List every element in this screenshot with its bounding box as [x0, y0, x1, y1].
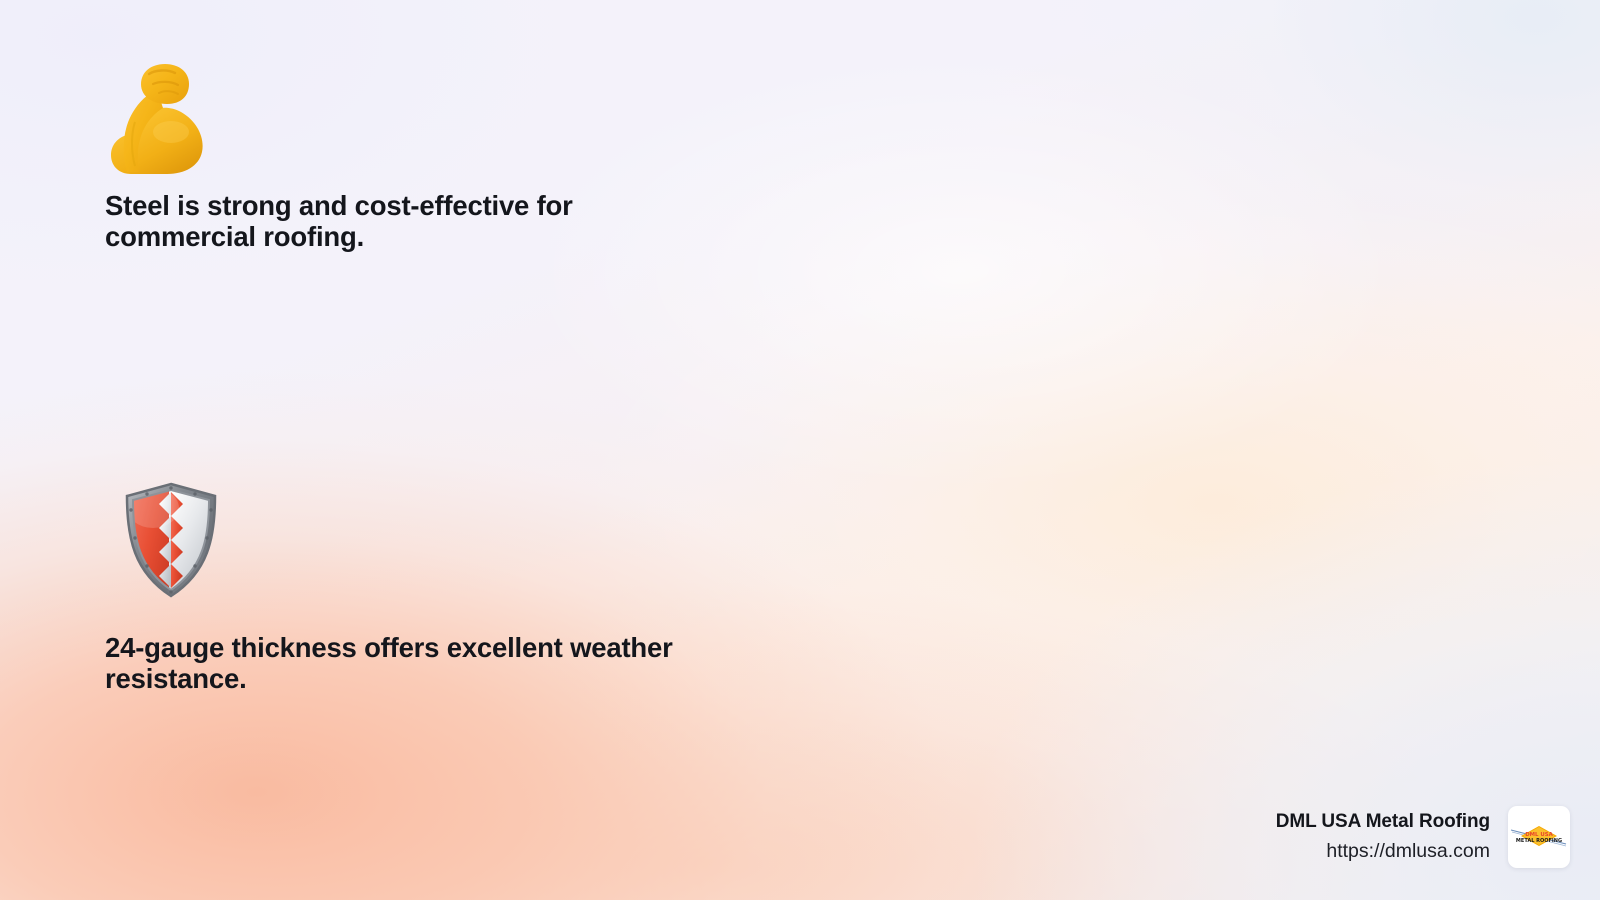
- svg-text:METAL ROOFING: METAL ROOFING: [1516, 838, 1562, 844]
- brand-text-block: DML USA Metal Roofing https://dmlusa.com: [1276, 810, 1490, 864]
- brand-url[interactable]: https://dmlusa.com: [1276, 838, 1490, 864]
- feature-grid: Steel is strong and cost-effective for c…: [0, 0, 1600, 900]
- feature-card-strength: Steel is strong and cost-effective for c…: [0, 0, 800, 420]
- feature-caption: Steel is strong and cost-effective for c…: [105, 190, 725, 252]
- feature-card-installation: Proper installation can mitigate common …: [800, 420, 1600, 840]
- feature-card-durability: 24-gauge thickness offers excellent weat…: [0, 420, 800, 840]
- brand-name: DML USA Metal Roofing: [1276, 810, 1490, 834]
- feature-card-styles: Various styles like standing seam and co…: [800, 0, 1600, 420]
- dml-usa-metal-roofing-logo[interactable]: DML USA METAL ROOFING: [1508, 806, 1570, 868]
- slide-canvas: Steel is strong and cost-effective for c…: [0, 0, 1600, 900]
- shield-icon: [105, 480, 725, 602]
- flexed-biceps-icon: [105, 60, 725, 182]
- feature-caption: 24-gauge thickness offers excellent weat…: [105, 632, 725, 694]
- brand-footer: DML USA Metal Roofing https://dmlusa.com…: [1276, 806, 1570, 868]
